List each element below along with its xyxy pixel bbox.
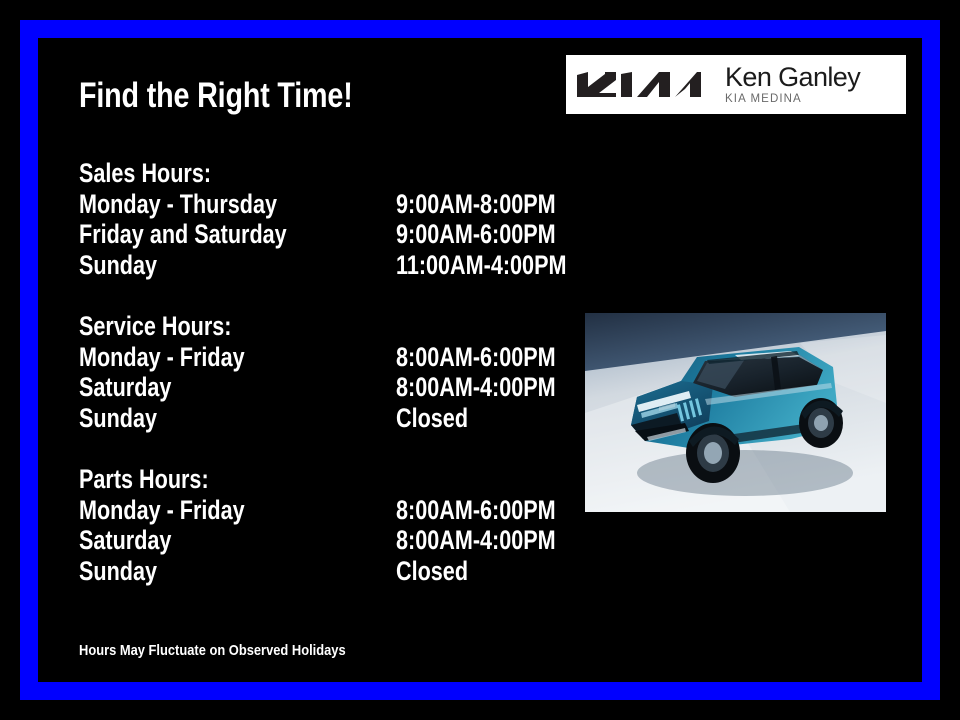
dealer-name: Ken Ganley <box>725 64 860 91</box>
dealer-sub-name: KIA MEDINA <box>725 92 860 106</box>
hours-row-day: Friday and Saturday <box>79 219 287 250</box>
hours-row: Saturday8:00AM-4:00PM <box>79 372 549 403</box>
page-title: Find the Right Time! <box>79 78 353 115</box>
hours-row-time: Closed <box>396 403 468 434</box>
hours-row-time: 8:00AM-4:00PM <box>396 525 556 556</box>
vehicle-photo <box>585 313 886 512</box>
hours-row: Friday and Saturday9:00AM-6:00PM <box>79 219 549 250</box>
hours-block-heading: Service Hours: <box>79 311 455 342</box>
hours-row-day: Saturday <box>79 525 171 556</box>
hours-row-day: Sunday <box>79 403 157 434</box>
hours-listing: Sales Hours:Monday - Thursday9:00AM-8:00… <box>79 158 549 586</box>
hours-row: SundayClosed <box>79 403 549 434</box>
hours-row: SundayClosed <box>79 556 549 587</box>
hours-row-time: 8:00AM-4:00PM <box>396 372 556 403</box>
hours-row-day: Saturday <box>79 372 171 403</box>
hours-row-time: 9:00AM-8:00PM <box>396 189 556 220</box>
hours-row-day: Sunday <box>79 250 157 281</box>
hours-block: Parts Hours:Monday - Friday8:00AM-6:00PM… <box>79 464 549 586</box>
hours-row-day: Sunday <box>79 556 157 587</box>
hours-row: Monday - Friday8:00AM-6:00PM <box>79 342 549 373</box>
hours-row: Monday - Friday8:00AM-6:00PM <box>79 495 549 526</box>
hours-row: Sunday11:00AM-4:00PM <box>79 250 549 281</box>
hours-row: Saturday8:00AM-4:00PM <box>79 525 549 556</box>
hours-row-time: 8:00AM-6:00PM <box>396 342 556 373</box>
hours-block: Service Hours:Monday - Friday8:00AM-6:00… <box>79 311 549 433</box>
hours-block-heading: Sales Hours: <box>79 158 455 189</box>
hours-block: Sales Hours:Monday - Thursday9:00AM-8:00… <box>79 158 549 280</box>
slide-canvas: Find the Right Time! Ken Ganley KIA MEDI… <box>0 0 960 720</box>
kia-logo-mark <box>577 71 701 98</box>
hours-row-time: 8:00AM-6:00PM <box>396 495 556 526</box>
dealer-logo-card: Ken Ganley KIA MEDINA <box>566 55 906 114</box>
hours-row-day: Monday - Thursday <box>79 189 277 220</box>
footer-disclaimer: Hours May Fluctuate on Observed Holidays <box>79 642 346 659</box>
dealer-name-block: Ken Ganley KIA MEDINA <box>725 64 860 106</box>
hours-block-heading: Parts Hours: <box>79 464 455 495</box>
hours-row-day: Monday - Friday <box>79 342 245 373</box>
hours-row-time: 9:00AM-6:00PM <box>396 219 556 250</box>
hours-row-time: Closed <box>396 556 468 587</box>
hours-row: Monday - Thursday9:00AM-8:00PM <box>79 189 549 220</box>
hours-row-day: Monday - Friday <box>79 495 245 526</box>
hours-row-time: 11:00AM-4:00PM <box>396 250 566 281</box>
